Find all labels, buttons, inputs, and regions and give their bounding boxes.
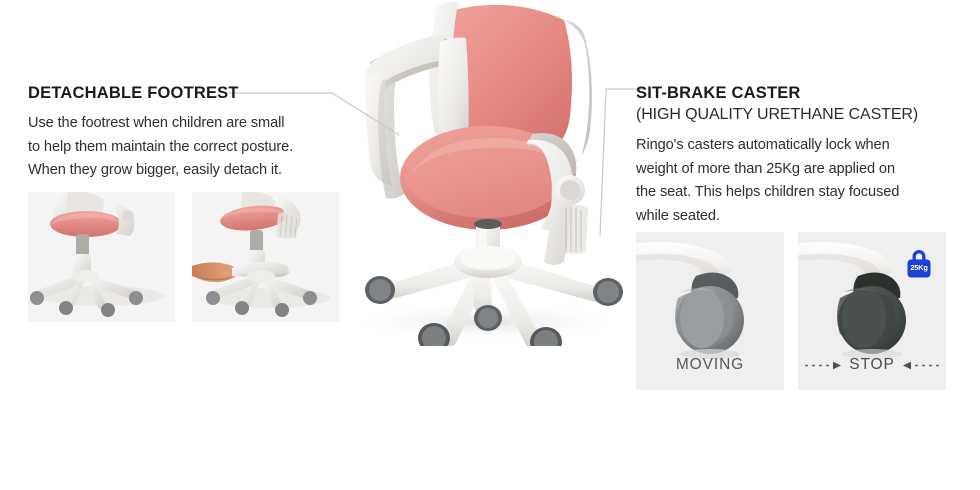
- dotted-arrow-left-icon: [900, 361, 940, 370]
- left-callout-title: DETACHABLE FOOTREST: [28, 84, 358, 103]
- lock-badge-text: 25Kg: [902, 263, 936, 272]
- right-callout-line-3: the seat. This helps children stay focus…: [636, 181, 956, 205]
- caster-label-stop-row: STOP: [798, 356, 946, 374]
- right-callout-body: Ringo's casters automatically lock when …: [636, 134, 956, 229]
- right-callout-line-4: while seated.: [636, 205, 956, 229]
- lock-badge-25kg: 25Kg: [902, 246, 936, 280]
- right-callout-subtitle: (HIGH QUALITY URETHANE CASTER): [636, 106, 956, 124]
- right-callout-line-1: Ringo's casters automatically lock when: [636, 134, 956, 158]
- caster-label-moving: MOVING: [636, 356, 784, 374]
- caster-panel-moving: MOVING: [636, 232, 784, 390]
- left-callout-line-1: Use the footrest when children are small: [28, 112, 358, 136]
- thumbnail-footrest-detaching: [192, 192, 339, 322]
- thumbnail-footrest-attached: [28, 192, 175, 322]
- left-callout-line-3: When they grow bigger, easily detach it.: [28, 159, 358, 183]
- chair-side-ribs: [562, 204, 588, 254]
- caster-label-stop: STOP: [849, 356, 895, 374]
- right-callout-line-2: weight of more than 25Kg are applied on: [636, 158, 956, 182]
- callout-sit-brake-caster: SIT-BRAKE CASTER (HIGH QUALITY URETHANE …: [636, 84, 956, 229]
- infographic-canvas: DETACHABLE FOOTREST Use the footrest whe…: [0, 0, 980, 490]
- left-callout-line-2: to help them maintain the correct postur…: [28, 136, 358, 160]
- left-callout-body: Use the footrest when children are small…: [28, 112, 358, 183]
- dotted-arrow-right-icon: [804, 361, 844, 370]
- hero-chair-image: [336, 0, 636, 346]
- callout-detachable-footrest: DETACHABLE FOOTREST Use the footrest whe…: [28, 84, 358, 183]
- right-callout-title: SIT-BRAKE CASTER: [636, 84, 956, 103]
